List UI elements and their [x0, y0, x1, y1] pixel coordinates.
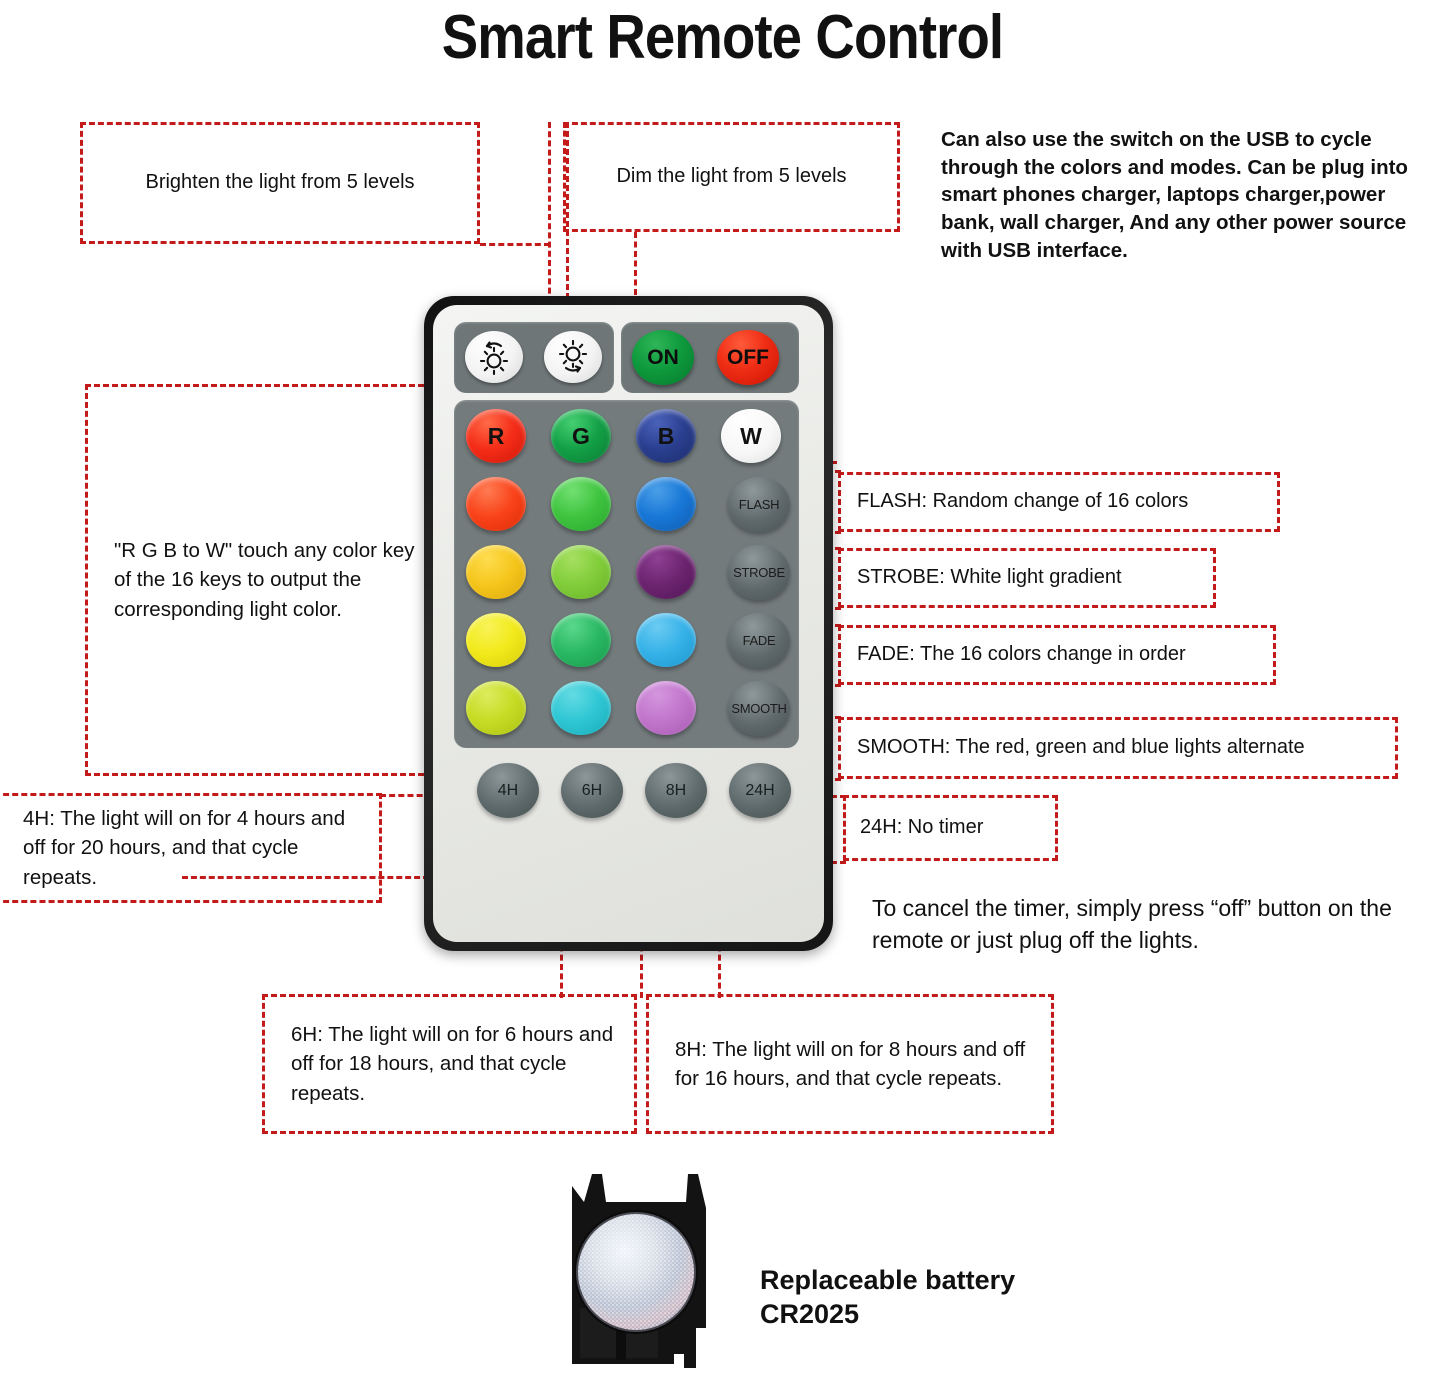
power-on-button[interactable]: ON: [632, 330, 694, 385]
connector-brighten-horizontal: [480, 243, 550, 246]
callout-brighten-text: Brighten the light from 5 levels: [145, 169, 414, 196]
callout-mode-flash-text: FLASH: Random change of 16 colors: [857, 488, 1188, 515]
callout-timer-8h: 8H: The light will on for 8 hours and of…: [646, 994, 1054, 1134]
cr2025-battery-icon: [556, 1168, 736, 1376]
timer-button-4h-label: 4H: [498, 782, 518, 800]
mode-button-strobe[interactable]: STROBE: [728, 545, 790, 600]
color-button-r1c1[interactable]: [466, 477, 526, 531]
power-panel: ON OFF: [621, 322, 799, 393]
timer-button-24h-label: 24H: [745, 782, 774, 800]
callout-timer-8h-text: 8H: The light will on for 8 hours and of…: [675, 1035, 1037, 1093]
callout-timer-24h: 24H: No timer: [843, 795, 1058, 861]
callout-mode-fade: FADE: The 16 colors change in order: [838, 625, 1276, 685]
timer-button-8h[interactable]: 8H: [645, 763, 707, 818]
callout-mode-fade-text: FADE: The 16 colors change in order: [857, 641, 1186, 668]
power-on-label: ON: [647, 346, 679, 370]
color-button-g[interactable]: G: [551, 409, 611, 463]
power-off-button[interactable]: OFF: [717, 330, 779, 385]
callout-timer-6h: 6H: The light will on for 6 hours and of…: [262, 994, 637, 1134]
callout-mode-strobe: STROBE: White light gradient: [838, 548, 1216, 608]
brightness-panel: [454, 322, 614, 393]
timer-button-6h-label: 6H: [582, 782, 602, 800]
callout-mode-strobe-text: STROBE: White light gradient: [857, 564, 1122, 591]
color-button-r-label: R: [488, 423, 505, 450]
color-button-w[interactable]: W: [721, 409, 781, 463]
mode-button-fade[interactable]: FADE: [728, 613, 790, 668]
callout-dim: Dim the light from 5 levels: [563, 122, 900, 232]
battery-image: [556, 1168, 736, 1376]
mode-button-strobe-label: STROBE: [733, 565, 785, 580]
color-button-r1c2[interactable]: [551, 477, 611, 531]
power-off-label: OFF: [727, 346, 769, 370]
callout-timer-4h: 4H: The light will on for 4 hours and of…: [0, 793, 382, 903]
callout-mode-smooth: SMOOTH: The red, green and blue lights a…: [838, 717, 1398, 779]
timer-button-6h[interactable]: 6H: [561, 763, 623, 818]
sun-up-icon: [474, 338, 514, 376]
color-button-w-label: W: [740, 423, 762, 450]
color-button-b-label: B: [658, 423, 675, 450]
color-button-r2c3[interactable]: [636, 545, 696, 599]
color-button-r4c2[interactable]: [551, 681, 611, 735]
callout-mode-smooth-text: SMOOTH: The red, green and blue lights a…: [857, 734, 1305, 761]
mode-button-flash[interactable]: FLASH: [728, 477, 790, 532]
battery-label: Replaceable battery CR2025: [760, 1264, 1060, 1332]
cancel-timer-note: To cancel the timer, simply press “off” …: [872, 893, 1442, 956]
page-title: Smart Remote Control: [87, 2, 1359, 73]
color-button-r1c3[interactable]: [636, 477, 696, 531]
callout-rgbw: "R G B to W" touch any color key of the …: [85, 384, 433, 776]
callout-brighten: Brighten the light from 5 levels: [80, 122, 480, 244]
callout-mode-flash: FLASH: Random change of 16 colors: [838, 472, 1280, 532]
callout-timer-6h-text: 6H: The light will on for 6 hours and of…: [291, 1020, 620, 1107]
usb-note: Can also use the switch on the USB to cy…: [941, 126, 1421, 264]
color-button-r3c2[interactable]: [551, 613, 611, 667]
color-button-g-label: G: [572, 423, 590, 450]
brightness-down-button[interactable]: [544, 331, 602, 383]
mode-button-flash-label: FLASH: [739, 497, 779, 512]
color-button-r4c3[interactable]: [636, 681, 696, 735]
mode-button-fade-label: FADE: [743, 633, 776, 648]
sun-down-icon: [553, 338, 593, 376]
mode-button-smooth-label: SMOOTH: [731, 701, 786, 716]
mode-button-smooth[interactable]: SMOOTH: [728, 681, 790, 736]
color-button-r4c1[interactable]: [466, 681, 526, 735]
connector-brighten-vertical: [548, 122, 551, 312]
callout-timer-24h-text: 24H: No timer: [860, 814, 983, 841]
callout-rgbw-text: "R G B to W" touch any color key of the …: [114, 536, 416, 623]
color-button-r2c2[interactable]: [551, 545, 611, 599]
brightness-up-button[interactable]: [465, 331, 523, 383]
timer-button-8h-label: 8H: [666, 782, 686, 800]
color-button-b[interactable]: B: [636, 409, 696, 463]
timer-button-24h[interactable]: 24H: [729, 763, 791, 818]
callout-dim-text: Dim the light from 5 levels: [616, 163, 846, 190]
color-button-r2c1[interactable]: [466, 545, 526, 599]
remote-face: ON OFF R G B W: [433, 305, 824, 942]
color-button-r3c3[interactable]: [636, 613, 696, 667]
connector-dim-vertical: [566, 122, 569, 317]
timer-button-4h[interactable]: 4H: [477, 763, 539, 818]
color-button-r3c1[interactable]: [466, 613, 526, 667]
remote-control-device: ON OFF R G B W: [424, 296, 833, 951]
color-button-r[interactable]: R: [466, 409, 526, 463]
